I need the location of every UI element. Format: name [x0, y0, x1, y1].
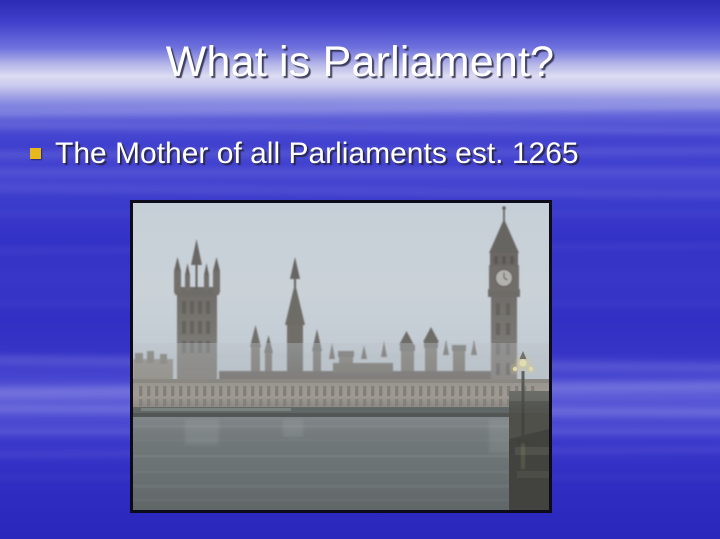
slide-title: What is Parliament?: [0, 40, 720, 85]
presentation-slide: What is Parliament? The Mother of all Pa…: [0, 0, 720, 539]
square-bullet-icon: [30, 148, 41, 159]
parliament-illustration: [133, 203, 549, 510]
houses-of-parliament-photo: [130, 200, 552, 513]
photo-image: [133, 203, 549, 510]
bullet-item-label: The Mother of all Parliaments est. 1265: [55, 137, 579, 170]
bullet-list-item: The Mother of all Parliaments est. 1265: [30, 137, 700, 170]
